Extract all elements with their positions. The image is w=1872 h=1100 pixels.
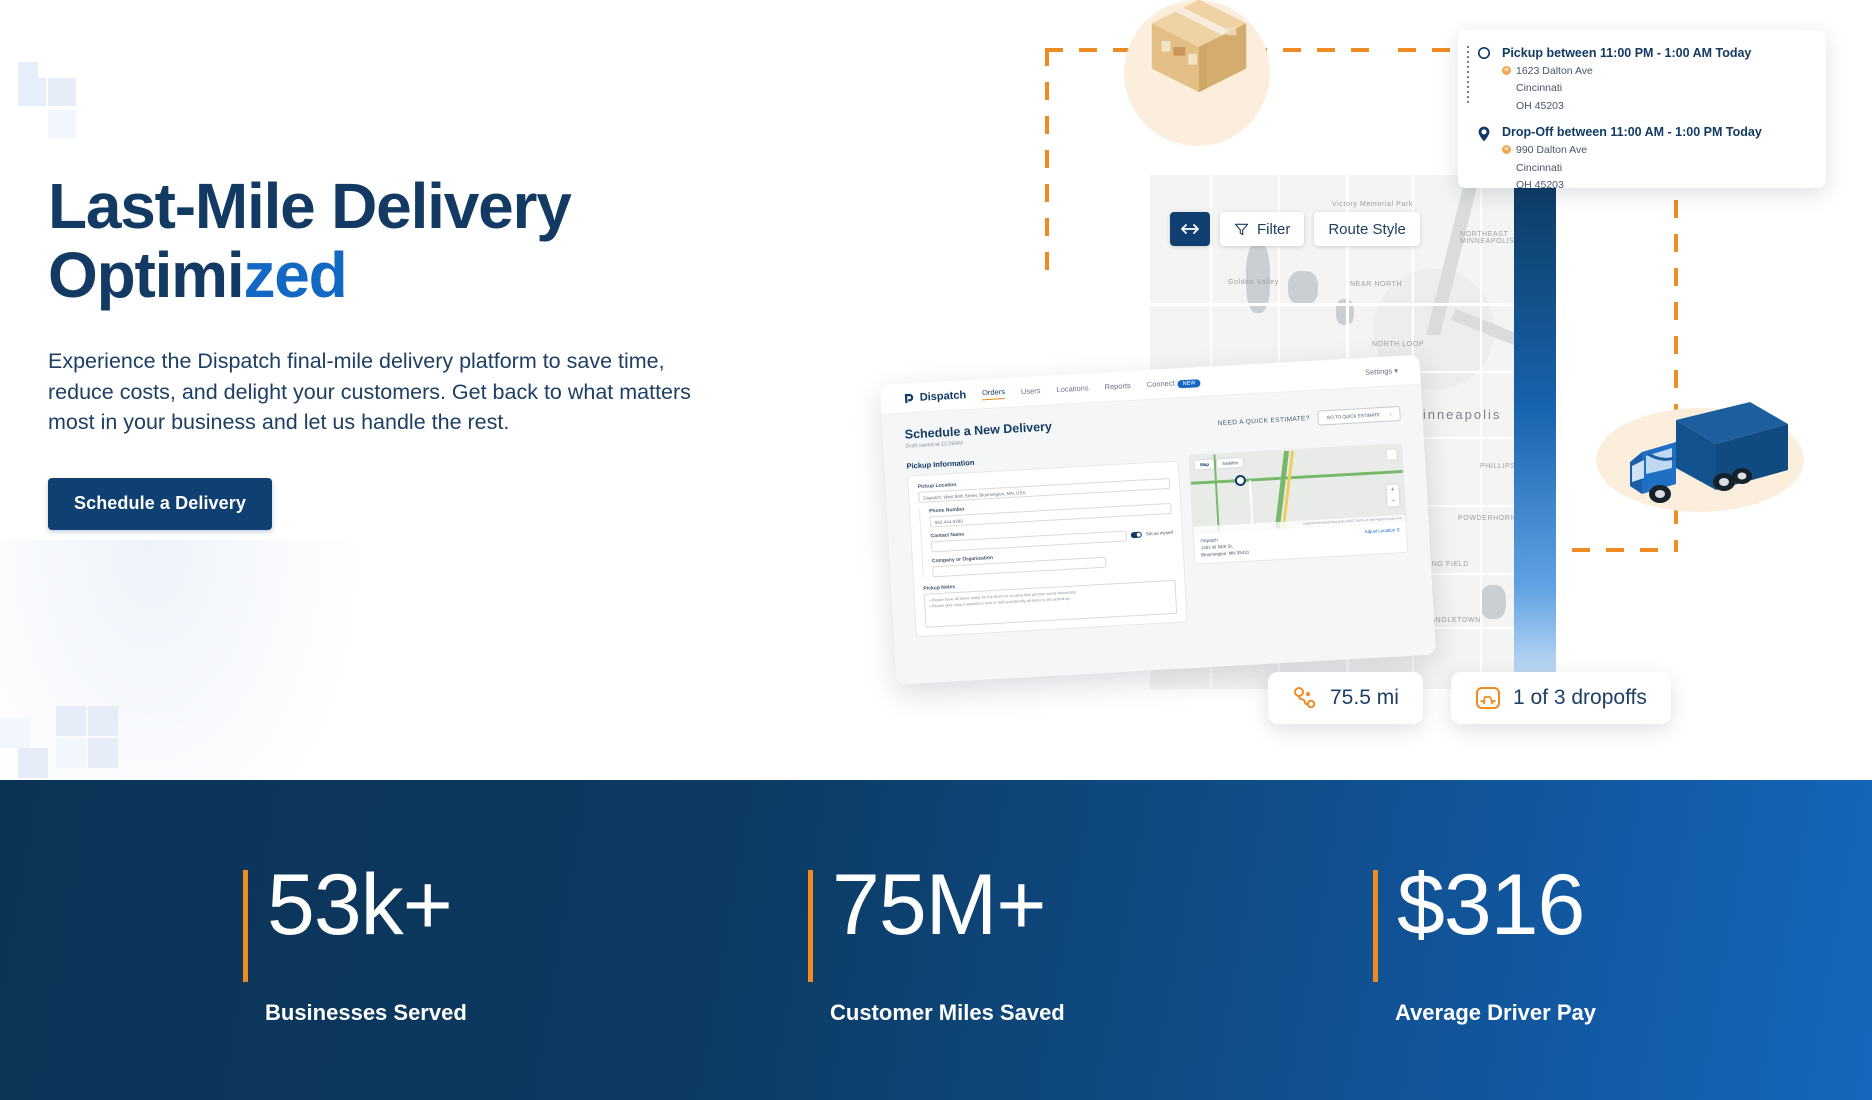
hero-glow <box>0 540 360 780</box>
dashboard-settings-menu[interactable]: Settings ▾ <box>1365 366 1398 377</box>
headline-line-2-dark: Optimi <box>48 239 243 311</box>
settings-label: Settings <box>1365 366 1393 376</box>
pickup-street-text: 1623 Dalton Ave <box>1516 65 1593 77</box>
pickup-title: Pickup between 11:00 PM - 1:00 AM Today <box>1502 46 1808 61</box>
dashboard-nav-orders[interactable]: Orders <box>982 387 1006 400</box>
minimap-map-tab[interactable]: Map <box>1195 459 1214 469</box>
decor-square <box>88 706 118 736</box>
dashboard-heading-group: Schedule a New Delivery Draft saved at 1… <box>904 419 1052 449</box>
truck-box-icon <box>1475 685 1501 711</box>
pickup-city: Cincinnati <box>1502 81 1808 95</box>
route-dash-left <box>1045 48 1049 278</box>
estimate-prompt: NEED A QUICK ESTIMATE? <box>1218 415 1310 427</box>
set-as-myself-label: Set as myself <box>1146 530 1173 537</box>
minimap-traffic-green <box>1191 470 1403 485</box>
set-as-myself-toggle[interactable] <box>1131 531 1142 538</box>
decor-square <box>18 748 48 778</box>
quick-estimate-label: GO TO QUICK ESTIMATE <box>1327 412 1380 420</box>
pickup-circle-icon <box>1476 46 1492 62</box>
pickup-location-minimap[interactable]: Map Satellite + − Keyboard shortcuts Map… <box>1189 443 1409 565</box>
pickup-stop-row: Pickup between 11:00 PM - 1:00 AM Today … <box>1474 46 1808 113</box>
pickup-contact-group: Phone Number 952-444-5280 Contact Name S… <box>919 495 1175 578</box>
minimap-zoom-in-button[interactable]: + <box>1386 484 1399 496</box>
map-place-label: POWDERHORN <box>1458 515 1516 522</box>
stop-connector-line <box>1467 46 1469 104</box>
funnel-icon <box>1234 222 1249 237</box>
chevron-right-icon: › <box>1390 412 1392 417</box>
route-dash-bottom <box>1572 548 1678 552</box>
minimap-canvas[interactable]: Map Satellite + − Keyboard shortcuts Map… <box>1190 444 1406 534</box>
map-city-label: Minneapolis <box>1410 407 1501 422</box>
dispatch-dashboard-screenshot[interactable]: Dispatch Orders Users Locations Reports … <box>880 355 1436 685</box>
hero-copy: Last-Mile Delivery Optimized Experience … <box>48 172 708 530</box>
decor-square <box>0 718 30 748</box>
stats-band: 53k+ Businesses Served 75M+ Customer Mil… <box>0 780 1872 1100</box>
page-title: Last-Mile Delivery Optimized <box>48 172 708 310</box>
minimap-satellite-tab[interactable]: Satellite <box>1217 458 1243 468</box>
left-right-arrows-icon <box>1180 222 1200 236</box>
connect-new-badge: NEW <box>1178 379 1201 388</box>
pickup-region: OH 45203 <box>1502 99 1808 113</box>
pickup-form-card: Pickup Location Dispatch, West 94th Stre… <box>907 460 1188 637</box>
decor-square <box>48 78 76 106</box>
dropoff-street: ✳ 990 Dalton Ave <box>1502 143 1808 157</box>
map-road <box>1480 175 1482 689</box>
pickup-street: ✳ 1623 Dalton Ave <box>1502 64 1808 78</box>
distance-pill: 75.5 mi <box>1268 672 1423 724</box>
dropoff-street-text: 990 Dalton Ave <box>1516 144 1587 156</box>
map-water <box>1480 585 1506 619</box>
dropoff-city: Cincinnati <box>1502 161 1808 175</box>
dashboard-brand: Dispatch <box>919 389 966 404</box>
dashboard-nav-connect[interactable]: ConnectNEW <box>1147 377 1201 389</box>
dropoff-title: Drop-Off between 11:00 AM - 1:00 PM Toda… <box>1502 125 1808 140</box>
decor-square <box>88 738 118 768</box>
decor-square <box>56 706 86 736</box>
stat-label: Customer Miles Saved <box>808 1000 1065 1026</box>
dashboard-nav-reports[interactable]: Reports <box>1104 381 1131 391</box>
stop-details-card: Pickup between 11:00 PM - 1:00 AM Today … <box>1458 30 1826 188</box>
decor-square <box>48 110 76 138</box>
map-place-label: Victory Memorial Park <box>1332 201 1413 208</box>
landing-page: Last-Mile Delivery Optimized Experience … <box>0 0 1872 1100</box>
stat-accent-bar <box>1373 870 1378 982</box>
quick-estimate-button[interactable]: GO TO QUICK ESTIMATE › <box>1317 406 1400 426</box>
dropoff-region: OH 45203 <box>1502 178 1808 192</box>
package-icon <box>1140 0 1258 100</box>
dashboard-content: Schedule a New Delivery Draft saved at 1… <box>882 385 1436 685</box>
address-marker-icon: ✳ <box>1502 66 1511 75</box>
stat-accent-bar <box>808 870 813 982</box>
dispatch-logo: Dispatch <box>902 389 966 405</box>
stat-value: 53k+ <box>243 862 467 948</box>
route-style-label: Route Style <box>1328 221 1406 238</box>
dropoffs-label: 1 of 3 dropoffs <box>1513 686 1647 710</box>
map-place-label: TANGLETOWN <box>1426 617 1481 624</box>
dropoff-stop-row: Drop-Off between 11:00 AM - 1:00 PM Toda… <box>1474 125 1808 192</box>
dropoff-map-pin-icon <box>1476 125 1492 143</box>
route-icon <box>1292 685 1318 711</box>
adjust-location-label: Adjust Location <box>1364 527 1395 534</box>
stat-average-driver-pay: $316 Average Driver Pay <box>1373 862 1596 1026</box>
map-place-label: NORTH LOOP <box>1372 341 1424 348</box>
minimap-address: Dispatch 1401 W 94th St, Bloomington, MN… <box>1200 536 1249 559</box>
stat-customer-miles-saved: 75M+ Customer Miles Saved <box>808 862 1065 1026</box>
map-place-label: NEAR NORTH <box>1350 281 1402 288</box>
distance-label: 75.5 mi <box>1330 686 1399 710</box>
stat-businesses-served: 53k+ Businesses Served <box>243 862 467 1026</box>
connect-label: Connect <box>1147 379 1175 390</box>
minimap-zoom-controls: + − <box>1386 484 1399 507</box>
minimap-location-pin <box>1235 475 1247 487</box>
schedule-a-delivery-button[interactable]: Schedule a Delivery <box>48 478 272 530</box>
pan-tool-button[interactable] <box>1170 212 1210 246</box>
filter-label: Filter <box>1257 221 1290 238</box>
stat-label: Average Driver Pay <box>1373 1000 1596 1026</box>
minimap-zoom-out-button[interactable]: − <box>1387 495 1400 507</box>
dashboard-nav-users[interactable]: Users <box>1021 386 1041 396</box>
headline-line-1: Last-Mile Delivery <box>48 170 571 242</box>
decor-square <box>18 78 46 106</box>
map-place-label: Golden Valley <box>1228 279 1279 286</box>
dashboard-nav-locations[interactable]: Locations <box>1056 383 1089 394</box>
decor-square <box>56 738 86 768</box>
stat-accent-bar <box>243 870 248 982</box>
dropoffs-pill: 1 of 3 dropoffs <box>1451 672 1671 724</box>
filter-button[interactable]: Filter <box>1220 212 1304 246</box>
route-style-button[interactable]: Route Style <box>1314 212 1420 246</box>
map-water <box>1288 271 1318 305</box>
map-gradient-edge <box>1514 175 1556 689</box>
address-marker-icon: ✳ <box>1502 145 1511 154</box>
stat-value: 75M+ <box>808 862 1065 948</box>
adjust-location-link[interactable]: Adjust Location ⚲ <box>1364 527 1400 535</box>
map-place-label: PHILLIPS <box>1480 463 1516 470</box>
stat-value: $316 <box>1373 862 1596 948</box>
minimap-fullscreen-icon[interactable] <box>1386 449 1397 460</box>
headline-line-2: Optimized <box>48 241 708 310</box>
dispatch-mark-icon <box>902 392 915 405</box>
minimap-map-type-toggle: Map Satellite <box>1195 458 1243 470</box>
delivery-truck-icon <box>1612 390 1796 518</box>
map-toolbar: Filter Route Style <box>1170 212 1420 246</box>
stat-label: Businesses Served <box>243 1000 467 1026</box>
hero-subcopy: Experience the Dispatch final-mile deliv… <box>48 346 693 438</box>
headline-line-2-accent: zed <box>243 239 346 311</box>
hero-section: Last-Mile Delivery Optimized Experience … <box>0 0 1872 780</box>
